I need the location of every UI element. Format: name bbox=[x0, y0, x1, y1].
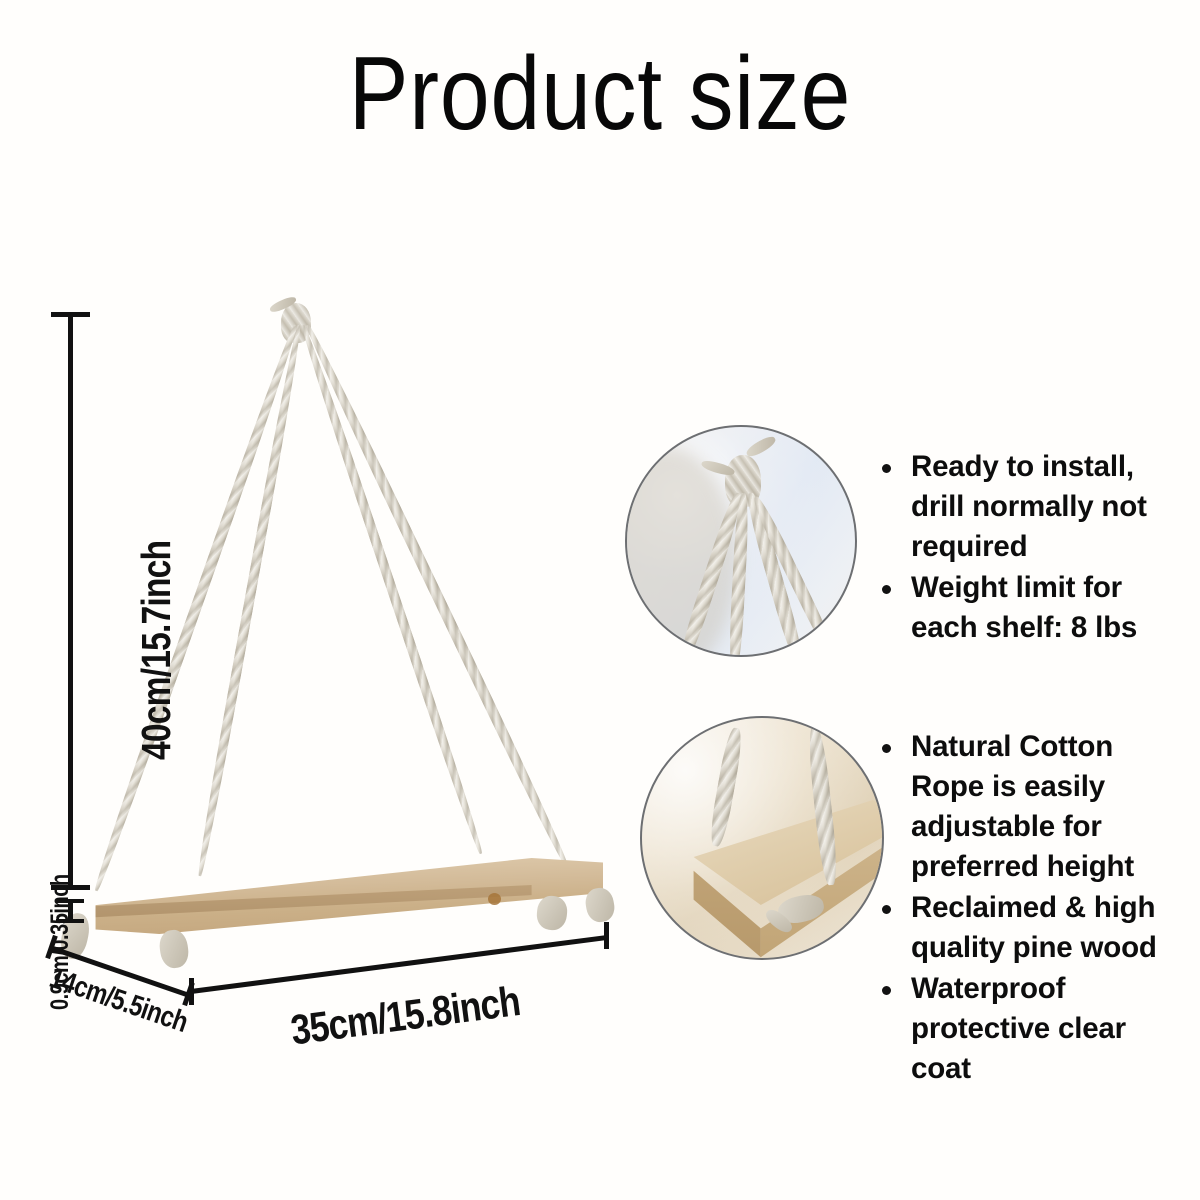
rope-strand-right-inner bbox=[298, 323, 485, 855]
height-dimension-label: 40cm/15.7inch bbox=[133, 541, 180, 760]
feature-text: Waterproof protective clear coat bbox=[911, 969, 1190, 1089]
shelf-corner-board-top bbox=[640, 788, 884, 938]
wood-knot-mark bbox=[488, 893, 501, 905]
width-dimension-cap-left bbox=[189, 978, 194, 1005]
list-item: Waterproof protective clear coat bbox=[878, 969, 1190, 1089]
page-title: Product size bbox=[84, 42, 1116, 146]
feature-list-2: Natural Cotton Rope is easily adjustable… bbox=[878, 727, 1190, 1090]
width-dimension-cap-right bbox=[604, 922, 609, 949]
inset-photo-rope-knot-detail bbox=[625, 425, 857, 657]
infographic-canvas: Product size 40cm/15.7inch bbox=[0, 0, 1200, 1200]
rope-strand-left-outer bbox=[91, 323, 301, 893]
rope-strand-right-outer bbox=[303, 323, 572, 869]
feature-text: Reclaimed & high quality pine wood bbox=[911, 888, 1190, 968]
rope-through-hole-left bbox=[707, 727, 745, 848]
width-dimension-line bbox=[191, 935, 605, 994]
bullet-dot-icon bbox=[882, 986, 891, 995]
bullet-dot-icon bbox=[882, 585, 891, 594]
list-item: Ready to install, drill normally not req… bbox=[878, 447, 1182, 567]
bullet-dot-icon bbox=[882, 464, 891, 473]
feature-text: Weight limit for each shelf: 8 lbs bbox=[911, 568, 1182, 648]
rope-strand-left-inner bbox=[195, 324, 304, 877]
list-item: Natural Cotton Rope is easily adjustable… bbox=[878, 727, 1190, 887]
inset-photo-shelf-corner-detail bbox=[640, 716, 884, 960]
height-dimension-line bbox=[68, 312, 73, 890]
list-item: Weight limit for each shelf: 8 lbs bbox=[878, 568, 1182, 648]
bullet-dot-icon bbox=[882, 905, 891, 914]
list-item: Reclaimed & high quality pine wood bbox=[878, 888, 1190, 968]
rope-knot-tail bbox=[744, 434, 777, 460]
height-dimension-cap-top bbox=[51, 312, 90, 317]
feature-list-1: Ready to install, drill normally not req… bbox=[878, 447, 1182, 649]
bullet-dot-icon bbox=[882, 744, 891, 753]
rope-tail-left-inner bbox=[157, 928, 190, 970]
rope-tail-right bbox=[583, 886, 616, 924]
rope-tail-right-inner bbox=[535, 895, 568, 932]
feature-text: Natural Cotton Rope is easily adjustable… bbox=[911, 727, 1190, 887]
feature-text: Ready to install, drill normally not req… bbox=[911, 447, 1182, 567]
width-dimension-label: 35cm/15.8inch bbox=[288, 977, 523, 1055]
